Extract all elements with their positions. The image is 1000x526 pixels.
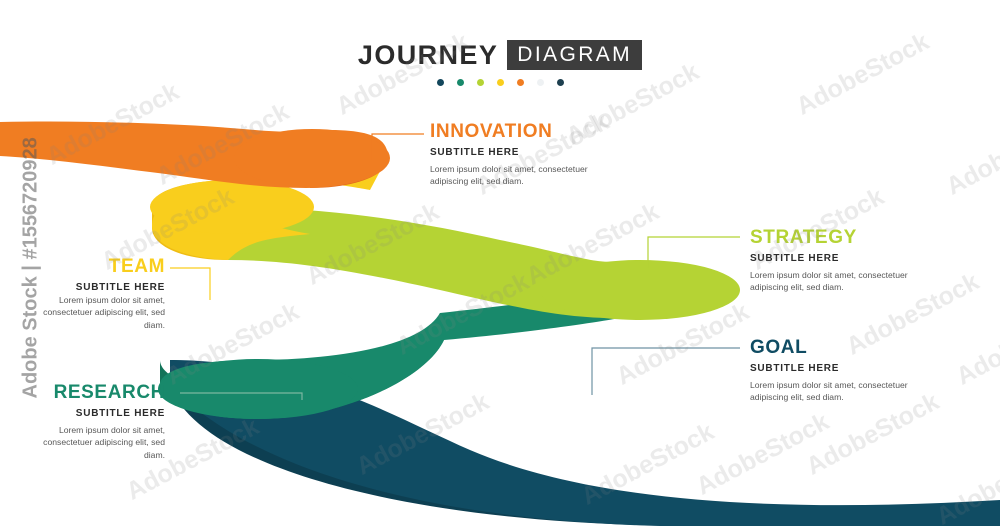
step-title-strategy: STRATEGY <box>750 228 940 249</box>
road-cap-team <box>150 180 314 234</box>
step-title-goal: GOAL <box>750 338 940 359</box>
step-label-research[interactable]: RESEARCH SUBTITLE HERE Lorem ipsum dolor… <box>20 383 165 461</box>
step-subtitle-goal: SUBTITLE HERE <box>750 363 940 374</box>
dot-navy-1 <box>437 79 444 86</box>
step-body-wrap-team: Lorem ipsum dolor sit amet, consectetuer… <box>25 294 165 331</box>
road-cap-strategy <box>540 260 740 320</box>
road-segment-innovation <box>0 121 390 188</box>
journey-diagram-canvas: JOURNEY DIAGRAM INNOVATION SUBTITLE HERE… <box>0 0 1000 526</box>
dot-green <box>477 79 484 86</box>
step-body-team: Lorem ipsum dolor sit amet, consectetuer… <box>25 294 165 331</box>
step-label-strategy[interactable]: STRATEGY SUBTITLE HERE Lorem ipsum dolor… <box>750 228 940 294</box>
step-title-innovation: INNOVATION <box>430 122 620 143</box>
dot-faded <box>537 79 544 86</box>
step-subtitle-innovation: SUBTITLE HERE <box>430 147 620 158</box>
road-segment-strategy <box>225 207 740 320</box>
step-subtitle-team: SUBTITLE HERE <box>25 282 165 293</box>
step-subtitle-strategy: SUBTITLE HERE <box>750 253 940 264</box>
step-body-research: Lorem ipsum dolor sit amet, consectetuer… <box>20 424 165 461</box>
step-label-team[interactable]: TEAM SUBTITLE HERE <box>25 257 165 298</box>
dot-orange <box>517 79 524 86</box>
road-cap-innovation <box>234 129 390 187</box>
step-label-innovation[interactable]: INNOVATION SUBTITLE HERE Lorem ipsum dol… <box>430 122 620 188</box>
step-body-strategy: Lorem ipsum dolor sit amet, consectetuer… <box>750 269 940 294</box>
step-subtitle-research: SUBTITLE HERE <box>20 408 165 419</box>
road-cap-research <box>158 359 358 419</box>
page-title: JOURNEY <box>358 42 498 69</box>
connector-team <box>170 268 210 300</box>
connector-goal <box>592 348 740 395</box>
title-row: JOURNEY DIAGRAM <box>358 40 642 70</box>
dot-navy-2 <box>557 79 564 86</box>
dot-teal <box>457 79 464 86</box>
color-dot-row <box>0 79 1000 86</box>
step-title-team: TEAM <box>25 257 165 278</box>
step-label-goal[interactable]: GOAL SUBTITLE HERE Lorem ipsum dolor sit… <box>750 338 940 404</box>
step-title-research: RESEARCH <box>20 383 165 404</box>
step-body-innovation: Lorem ipsum dolor sit amet, consectetuer… <box>430 163 620 188</box>
header: JOURNEY DIAGRAM <box>0 40 1000 86</box>
title-badge: DIAGRAM <box>507 40 642 70</box>
dot-yellow <box>497 79 504 86</box>
step-body-goal: Lorem ipsum dolor sit amet, consectetuer… <box>750 379 940 404</box>
